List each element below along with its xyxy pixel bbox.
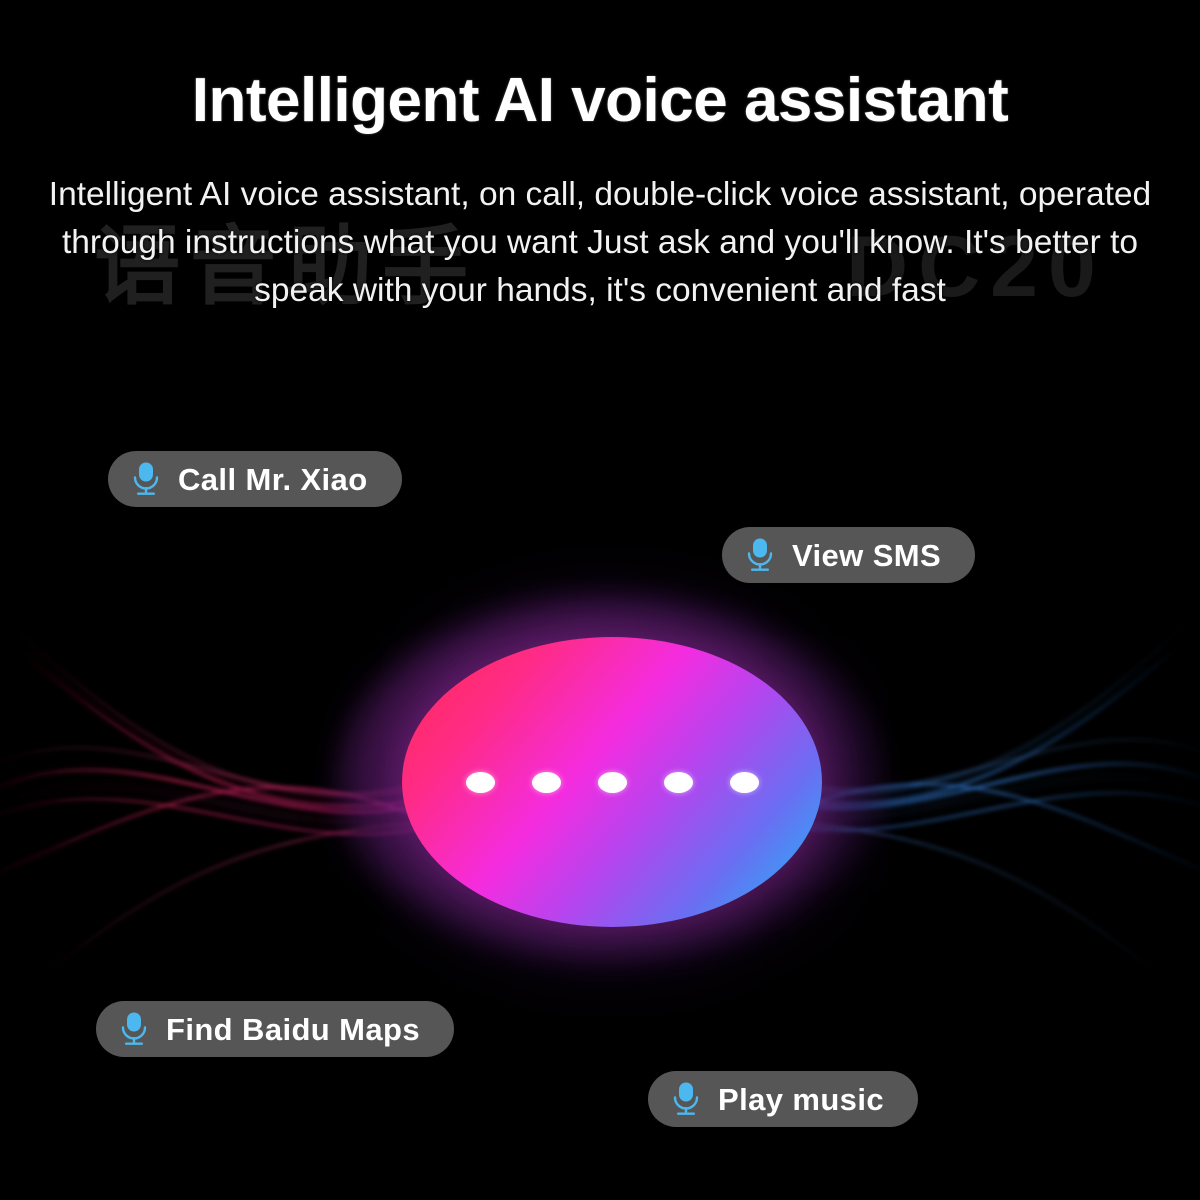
- voice-command-call-mr-xiao[interactable]: Call Mr. Xiao: [108, 451, 402, 507]
- voice-command-label: Play music: [718, 1084, 884, 1115]
- voice-command-label: Call Mr. Xiao: [178, 464, 368, 495]
- voice-assistant-promo-page: 语音助手 DC20 Intelligent AI voice assistant…: [0, 0, 1200, 1200]
- listening-dot: [466, 772, 495, 793]
- page-subtitle: Intelligent AI voice assistant, on call,…: [0, 171, 1200, 314]
- listening-dot: [598, 772, 627, 793]
- voice-command-label: View SMS: [792, 540, 941, 571]
- microphone-icon: [744, 537, 776, 573]
- microphone-icon: [130, 461, 162, 497]
- listening-dot: [664, 772, 693, 793]
- voice-command-play-music[interactable]: Play music: [648, 1071, 918, 1127]
- orb-gradient-body[interactable]: [402, 637, 822, 927]
- listening-dots: [402, 637, 822, 927]
- listening-dot: [532, 772, 561, 793]
- microphone-icon: [118, 1011, 150, 1047]
- listening-dot: [730, 772, 759, 793]
- voice-command-view-sms[interactable]: View SMS: [722, 527, 975, 583]
- page-title: Intelligent AI voice assistant: [0, 66, 1200, 135]
- voice-assistant-orb[interactable]: [340, 595, 880, 965]
- voice-command-find-baidu-maps[interactable]: Find Baidu Maps: [96, 1001, 454, 1057]
- voice-command-label: Find Baidu Maps: [166, 1014, 420, 1045]
- microphone-icon: [670, 1081, 702, 1117]
- header-block: Intelligent AI voice assistant Intellige…: [0, 0, 1200, 314]
